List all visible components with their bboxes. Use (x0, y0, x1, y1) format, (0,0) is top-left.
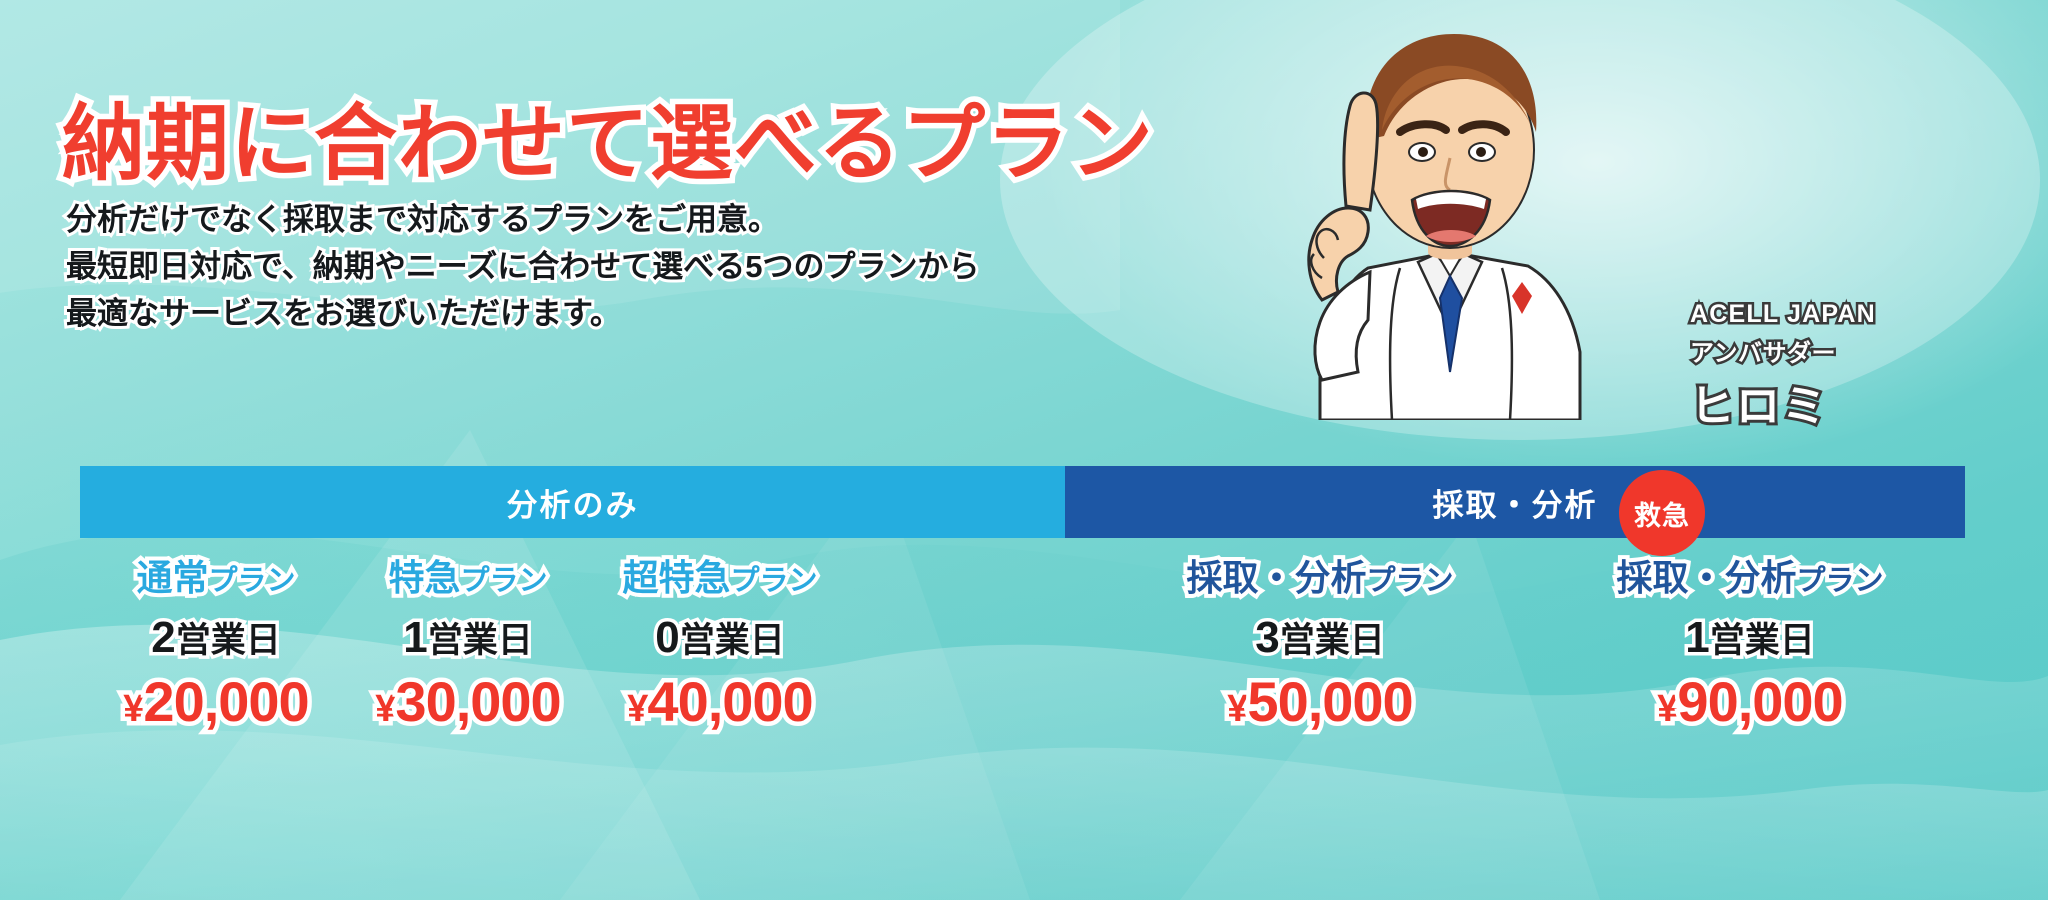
plan-days-unit-2: 営業日 (428, 621, 533, 660)
plan-amount-1: 20,000 (143, 670, 308, 733)
plan-days-unit-1: 営業日 (176, 621, 281, 660)
ambassador-role: アンバサダー (1690, 333, 1876, 368)
plan-price-5: ¥90,000 (1520, 674, 1980, 730)
plan-title-3: 超特急プラン (530, 560, 910, 596)
segment-analysis-only[interactable]: 分析のみ (80, 466, 1065, 538)
plan-amount-4: 50,000 (1247, 670, 1412, 733)
plan-name-3: 超特急 (622, 557, 730, 598)
plan-days-num-4: 3 (1255, 613, 1279, 662)
plan-days-num-1: 2 (151, 613, 175, 662)
plan-suffix-3: プラン (731, 565, 818, 597)
ambassador-caption: ACELL JAPAN アンバサダー ヒロミ (1690, 300, 1876, 434)
ambassador-brand: ACELL JAPAN (1690, 300, 1876, 329)
plan-days-num-5: 1 (1685, 613, 1709, 662)
plan-name-1: 通常 (136, 557, 208, 598)
plan-days-3: 0営業日 (530, 616, 910, 660)
plan-name-5: 採取・分析 (1616, 557, 1796, 598)
plan-title-5: 採取・分析プラン (1520, 560, 1980, 596)
plan-days-5: 1営業日 (1520, 616, 1980, 660)
emergency-badge: 救急 (1619, 470, 1705, 556)
plan-price-4: ¥50,000 (1090, 674, 1550, 730)
plan-amount-3: 40,000 (647, 670, 812, 733)
plan-title-4: 採取・分析プラン (1090, 560, 1550, 596)
plan-suffix-5: プラン (1797, 565, 1884, 597)
plan-days-unit-3: 営業日 (680, 621, 785, 660)
plan-card-5[interactable]: 救急 採取・分析プラン 1営業日 ¥90,000 (1520, 560, 1980, 730)
plan-amount-5: 90,000 (1677, 670, 1842, 733)
intro-paragraph: 分析だけでなく採取まで対応するプランをご用意。 最短即日対応で、納期やニーズに合… (66, 196, 979, 337)
plan-currency-1: ¥ (123, 688, 143, 730)
plan-days-4: 3営業日 (1090, 616, 1550, 660)
plan-currency-4: ¥ (1227, 688, 1247, 730)
plan-card-3[interactable]: 超特急プラン 0営業日 ¥40,000 (530, 560, 910, 730)
ambassador-photo (1250, 0, 1670, 420)
intro-line-1: 分析だけでなく採取まで対応するプランをご用意。 (66, 196, 979, 243)
plan-card-4[interactable]: 採取・分析プラン 3営業日 ¥50,000 (1090, 560, 1550, 730)
plan-currency-2: ¥ (375, 688, 395, 730)
plan-price-3: ¥40,000 (530, 674, 910, 730)
plan-name-4: 採取・分析 (1186, 557, 1366, 598)
plan-currency-3: ¥ (627, 688, 647, 730)
plan-suffix-1: プラン (209, 565, 296, 597)
plan-name-2: 特急 (388, 557, 460, 598)
intro-line-2: 最短即日対応で、納期やニーズに合わせて選べる5つのプランから (66, 243, 979, 290)
plan-days-num-2: 1 (403, 613, 427, 662)
plan-currency-5: ¥ (1657, 688, 1677, 730)
plan-days-unit-4: 営業日 (1280, 621, 1385, 660)
plan-days-unit-5: 営業日 (1710, 621, 1815, 660)
plan-suffix-4: プラン (1367, 565, 1454, 597)
segment-collection-analysis[interactable]: 採取・分析 (1065, 466, 1965, 538)
page-title: 納期に合わせて選べるプラン (62, 76, 1154, 196)
plan-days-num-3: 0 (655, 613, 679, 662)
ambassador-name: ヒロミ (1690, 370, 1876, 434)
plan-list: 通常プラン 2営業日 ¥20,000 特急プラン 1営業日 ¥30,000 超特… (0, 560, 2048, 860)
intro-line-3: 最適なサービスをお選びいただけます。 (66, 290, 979, 337)
